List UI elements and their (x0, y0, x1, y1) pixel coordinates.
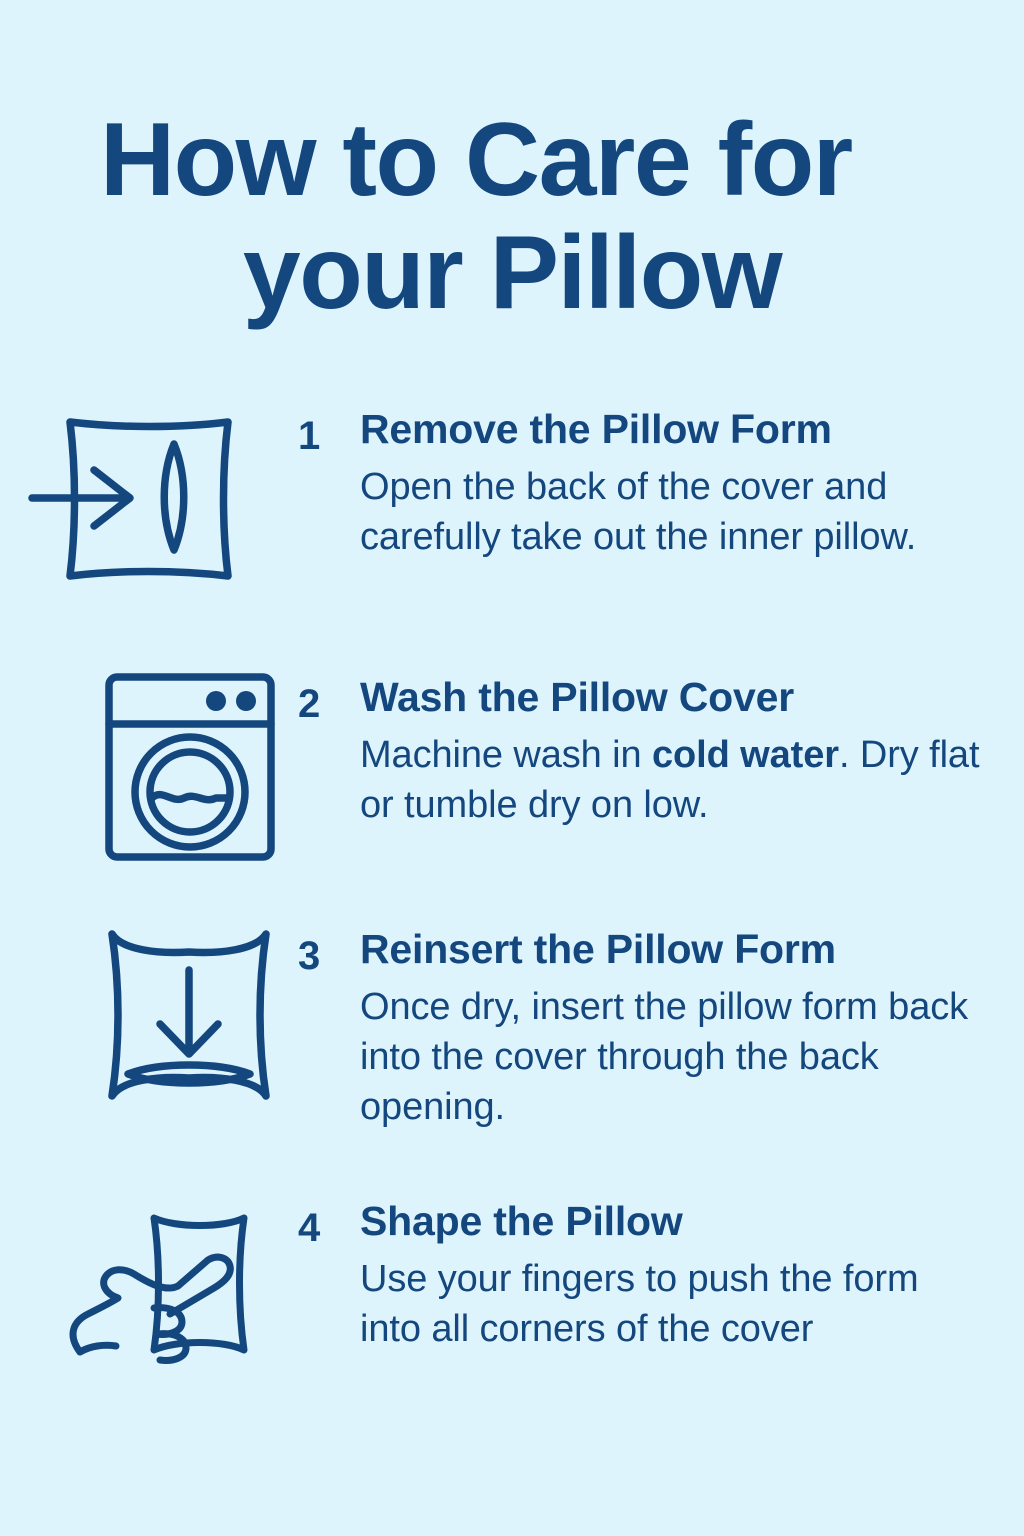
step-item-1: 1 Remove the Pillow Form Open the back o… (0, 396, 1024, 664)
page-title-line-2: your Pillow (56, 217, 968, 330)
step-4-icon-container (48, 1188, 298, 1360)
step-1-number: 1 (298, 396, 360, 456)
infographic-page: { "theme": { "background": "#ddf4fd", "i… (0, 0, 1024, 1536)
page-title-line-1: How to Care for (56, 104, 968, 217)
step-3-body: Once dry, insert the pillow form back in… (360, 983, 984, 1132)
washing-machine-icon (104, 672, 276, 862)
step-3-icon-container (48, 916, 298, 1102)
plain-text: Open the back of the cover and carefully… (360, 466, 916, 558)
step-4-title: Shape the Pillow (360, 1200, 984, 1243)
page-title-block: How to Care for your Pillow (0, 104, 1024, 331)
step-item-2: 2 Wash the Pillow Cover Machine wash in … (0, 664, 1024, 916)
pillow-with-arrow-in-icon (50, 410, 246, 582)
plain-text: Once dry, insert the pillow form back in… (360, 986, 968, 1128)
step-item-3: 3 Reinsert the Pillow Form Once dry, ins… (0, 916, 1024, 1188)
step-2-body: Machine wash in cold water. Dry flat or … (360, 731, 984, 831)
pillow-with-down-arrow-icon (98, 928, 280, 1102)
step-1-text: Remove the Pillow Form Open the back of … (360, 396, 1024, 563)
step-3-number: 3 (298, 916, 360, 976)
step-1-icon-container (48, 396, 298, 582)
plain-text: Use your fingers to push the form into a… (360, 1258, 919, 1350)
step-2-text: Wash the Pillow Cover Machine wash in co… (360, 664, 1024, 831)
step-1-body: Open the back of the cover and carefully… (360, 463, 984, 563)
step-4-text: Shape the Pillow Use your fingers to pus… (360, 1188, 1024, 1355)
step-3-title: Reinsert the Pillow Form (360, 928, 984, 971)
step-2-icon-container (48, 664, 298, 862)
step-1-title: Remove the Pillow Form (360, 408, 984, 451)
step-item-4: 4 Shape the Pillow Use your fingers to p… (0, 1188, 1024, 1388)
page-title: How to Care for your Pillow (56, 104, 968, 331)
steps-list: 1 Remove the Pillow Form Open the back o… (0, 396, 1024, 1388)
step-4-number: 4 (298, 1188, 360, 1248)
step-2-number: 2 (298, 664, 360, 724)
step-3-text: Reinsert the Pillow Form Once dry, inser… (360, 916, 1024, 1133)
plain-text: Machine wash in (360, 734, 652, 776)
emphasis-text: cold water (652, 734, 839, 776)
step-4-body: Use your fingers to push the form into a… (360, 1255, 984, 1355)
hand-pointing-at-pillow-icon (58, 1210, 288, 1360)
step-2-title: Wash the Pillow Cover (360, 676, 984, 719)
